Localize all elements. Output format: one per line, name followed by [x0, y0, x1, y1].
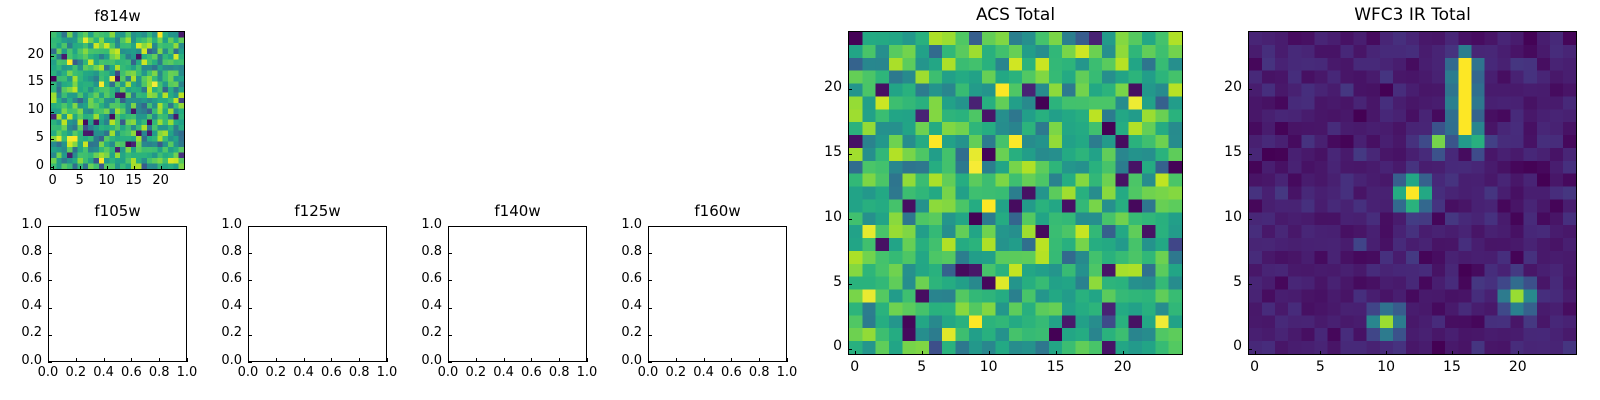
- yticklabel-wfc3-ir-total-0: 0: [1180, 338, 1242, 354]
- axes-wfc3-ir-total[interactable]: [1248, 31, 1577, 355]
- yticklabel-wfc3-ir-total-2: 10: [1180, 209, 1242, 225]
- xtick-wfc3-ir-total-2: [1386, 351, 1387, 355]
- xticklabel-wfc3-ir-total-4: 20: [1488, 359, 1548, 375]
- xticklabel-wfc3-ir-total-1: 5: [1290, 359, 1350, 375]
- xtick-wfc3-ir-total-4: [1518, 351, 1519, 355]
- yticklabel-wfc3-ir-total-3: 15: [1180, 144, 1242, 160]
- yticklabel-wfc3-ir-total-4: 20: [1180, 79, 1242, 95]
- xticklabel-wfc3-ir-total-3: 15: [1422, 359, 1482, 375]
- yticklabel-wfc3-ir-total-1: 5: [1180, 274, 1242, 290]
- xticklabel-wfc3-ir-total-2: 10: [1356, 359, 1416, 375]
- ytick-wfc3-ir-total-4: [1248, 89, 1252, 90]
- heatmap-image-wfc3-ir-total: [1249, 32, 1576, 354]
- panel-title-wfc3-ir-total: WFC3 IR Total: [1248, 5, 1577, 25]
- xtick-wfc3-ir-total-0: [1255, 351, 1256, 355]
- ytick-wfc3-ir-total-1: [1248, 284, 1252, 285]
- figure-canvas: f814w0510152005101520f105w0.00.20.40.60.…: [0, 0, 1600, 400]
- xtick-wfc3-ir-total-1: [1320, 351, 1321, 355]
- ytick-wfc3-ir-total-0: [1248, 349, 1252, 350]
- xtick-wfc3-ir-total-3: [1452, 351, 1453, 355]
- ytick-wfc3-ir-total-2: [1248, 219, 1252, 220]
- panel-wfc3-ir-total: WFC3 IR Total0510152005101520: [0, 0, 1600, 400]
- ytick-wfc3-ir-total-3: [1248, 154, 1252, 155]
- xticklabel-wfc3-ir-total-0: 0: [1225, 359, 1285, 375]
